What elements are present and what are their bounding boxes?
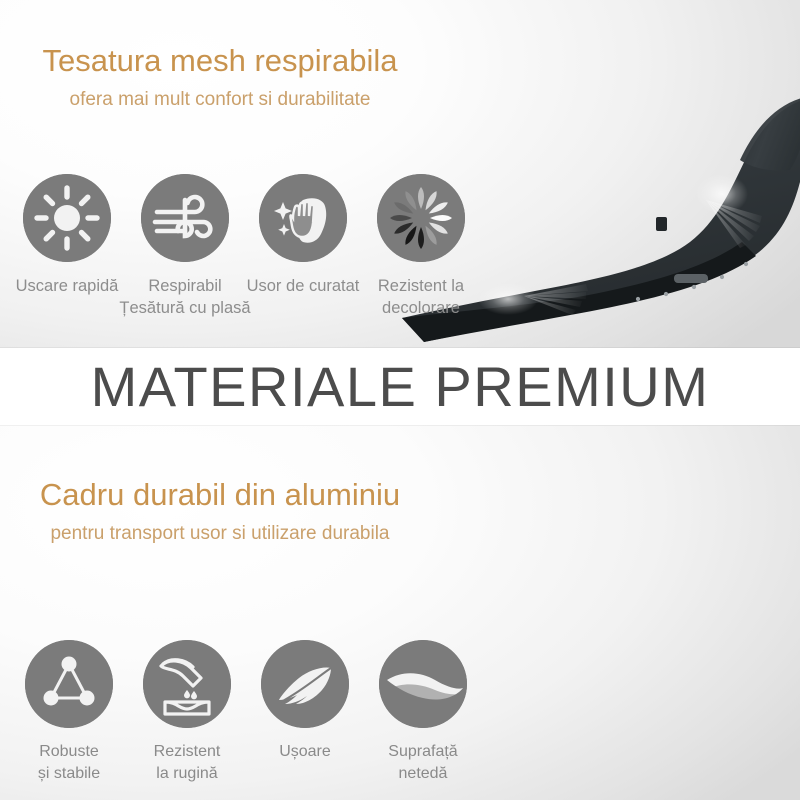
color-fade-icon: [377, 174, 465, 262]
feature-label-line2: decolorare: [382, 299, 460, 317]
feature-label-line2: la rugină: [156, 765, 217, 782]
banner-title: MATERIALE PREMIUM: [91, 359, 710, 415]
feature-easy-clean: Usor de curatat: [244, 174, 362, 320]
feature-label-line2: Țesătură cu plasă: [119, 299, 250, 317]
feature-label-line1: Respirabil: [148, 277, 221, 295]
hand-wipe-icon: [259, 174, 347, 262]
feature-label-line1: Robuste: [39, 743, 99, 760]
feature-label-line1: Uscare rapidă: [16, 277, 119, 295]
feature-label-line2: netedă: [399, 765, 448, 782]
feather-icon: [261, 640, 349, 728]
feature-quick-dry: Uscare rapidă: [8, 174, 126, 320]
feature-label: Usor de curatat: [247, 275, 360, 297]
feature-label-line1: Rezistent: [154, 743, 221, 760]
feature-label-line1: Ușoare: [279, 743, 331, 760]
feature-label: Rezistent la decolorare: [378, 275, 464, 320]
frame-bracket: [674, 274, 708, 283]
section-aluminium-frame: Cadru durabil din aluminiu pentru transp…: [0, 425, 800, 800]
feature-list-aluminium-frame: Robuste și stabile Rezistent: [10, 640, 482, 784]
feature-label: Uscare rapidă: [16, 275, 119, 297]
wind-icon: [141, 174, 229, 262]
feature-label-line1: Usor de curatat: [247, 277, 360, 295]
triangle-nodes-icon: [25, 640, 113, 728]
banner-materiale-premium: MATERIALE PREMIUM: [0, 348, 800, 425]
frame-joint: [656, 217, 667, 231]
heading-aluminium-frame: Cadru durabil din aluminiu pentru transp…: [0, 478, 440, 545]
heading-title: Cadru durabil din aluminiu: [0, 478, 440, 512]
feature-fade-resistant: Rezistent la decolorare: [362, 174, 480, 320]
heading-title: Tesatura mesh respirabila: [0, 44, 440, 78]
feature-label: Rezistent la rugină: [154, 741, 221, 784]
section-mesh-fabric: Tesatura mesh respirabila ofera mai mult…: [0, 0, 800, 348]
product-feature-poster: Tesatura mesh respirabila ofera mai mult…: [0, 0, 800, 800]
feature-label: Respirabil Țesătură cu plasă: [119, 275, 250, 320]
heading-subtitle: ofera mai mult confort si durabilitate: [0, 90, 440, 111]
heading-mesh-fabric: Tesatura mesh respirabila ofera mai mult…: [0, 44, 440, 111]
feature-rust-resistant: Rezistent la rugină: [128, 640, 246, 784]
feature-breathable: Respirabil Țesătură cu plasă: [126, 174, 244, 320]
smooth-wave-icon: [379, 640, 467, 728]
heading-subtitle: pentru transport usor si utilizare durab…: [0, 524, 440, 545]
feature-label-line1: Rezistent la: [378, 277, 464, 295]
feature-label: Robuste și stabile: [38, 741, 100, 784]
sun-icon: [23, 174, 111, 262]
feature-label: Suprafață netedă: [388, 741, 457, 784]
rust-drops-icon: [143, 640, 231, 728]
feature-smooth-surface: Suprafață netedă: [364, 640, 482, 784]
feature-sturdy: Robuste și stabile: [10, 640, 128, 784]
feature-list-mesh-fabric: Uscare rapidă Resp: [8, 174, 480, 320]
feature-label-line2: și stabile: [38, 765, 100, 782]
feature-label: Ușoare: [279, 741, 331, 763]
feature-lightweight: Ușoare: [246, 640, 364, 784]
feature-label-line1: Suprafață: [388, 743, 457, 760]
hand: [290, 202, 314, 237]
